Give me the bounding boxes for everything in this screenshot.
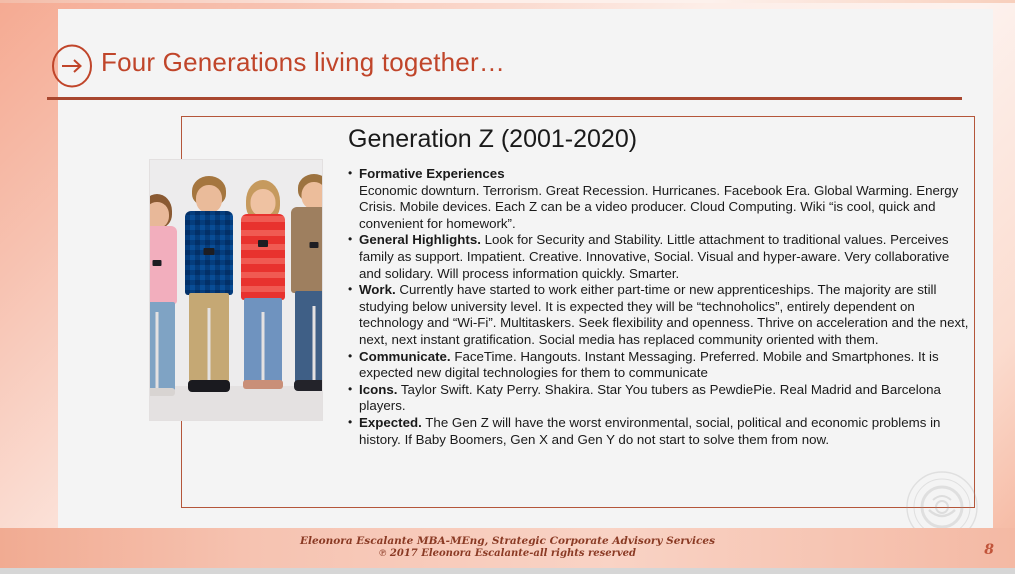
- child-figure: [150, 188, 180, 402]
- child-figure: [236, 178, 290, 402]
- bullet-lead: Icons.: [359, 382, 397, 397]
- child-figure: [181, 176, 237, 402]
- bullet-body: The Gen Z will have the worst environmen…: [359, 415, 940, 447]
- page-title: Four Generations living together…: [101, 47, 505, 78]
- bullet-list: Formative Experiences Economic downturn.…: [348, 166, 970, 448]
- slide: Four Generations living together… Genera…: [0, 0, 1015, 574]
- bullet-lead: Work.: [359, 282, 396, 297]
- footer-credit: Eleonora Escalante MBA-MEng, Strategic C…: [0, 535, 1015, 560]
- bullet-lead: Formative Experiences: [359, 166, 505, 181]
- list-item: Formative Experiences Economic downturn.…: [348, 166, 970, 232]
- title-divider: [47, 97, 962, 100]
- footer-line-1: Eleonora Escalante MBA-MEng, Strategic C…: [0, 535, 1015, 548]
- child-figure: [288, 174, 322, 402]
- bullet-body: Taylor Swift. Katy Perry. Shakira. Star …: [359, 382, 941, 414]
- bottom-edge: [0, 568, 1015, 574]
- list-item: Expected. The Gen Z will have the worst …: [348, 415, 970, 448]
- bullet-body: Economic downturn. Terrorism. Great Rece…: [359, 183, 970, 233]
- top-decorative-band: [0, 0, 1015, 3]
- bullet-lead: Communicate.: [359, 349, 451, 364]
- circle-right-arrow-icon: [50, 44, 94, 88]
- list-item: General Highlights. Look for Security an…: [348, 232, 970, 282]
- bullet-lead: Expected.: [359, 415, 422, 430]
- bullet-body: Currently have started to work either pa…: [359, 282, 969, 347]
- footer-line-2: ℗ 2017 Eleonora Escalante-all rights res…: [0, 548, 1015, 561]
- four-children-using-smartphones-photo: [150, 160, 322, 420]
- page-number: 8: [984, 542, 994, 558]
- list-item: Icons. Taylor Swift. Katy Perry. Shakira…: [348, 382, 970, 415]
- list-item: Communicate. FaceTime. Hangouts. Instant…: [348, 349, 970, 382]
- list-item: Work. Currently have started to work eit…: [348, 282, 970, 348]
- bullet-lead: General Highlights.: [359, 232, 481, 247]
- generation-heading: Generation Z (2001-2020): [348, 125, 637, 154]
